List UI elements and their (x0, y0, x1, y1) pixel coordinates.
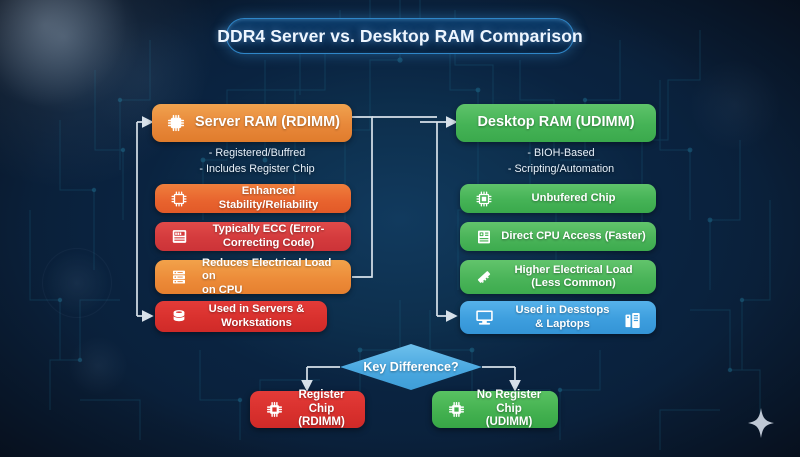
result-no-register-chip[interactable]: No Register Chip (UDIMM) (432, 391, 558, 428)
tower-pc-icon (620, 307, 646, 333)
node-label: Enhanced Stability/Reliability (192, 185, 351, 211)
node-label: Higher Electrical Load (Less Common) (497, 264, 656, 290)
node-used-in-desktops[interactable]: Used in Desstops & Laptops (460, 301, 656, 334)
node-direct-cpu-access[interactable]: Direct CPU Access (Faster) (460, 222, 656, 251)
node-label: Used in Servers & Workstations (192, 303, 327, 329)
node-unbuffered-chip[interactable]: Unbufered Chip (460, 184, 656, 213)
ram-stick-icon (471, 264, 497, 290)
infographic-canvas: DDR4 Server vs. Desktop RAM Comparison (0, 0, 800, 457)
monitor-icon (471, 305, 497, 331)
result-register-chip[interactable]: Register Chip (RDIMM) (250, 391, 365, 428)
server-rack-icon (166, 224, 192, 250)
right-bullets: - BIOH-Based - Scripting/Automation (466, 146, 656, 177)
server-stack-icon (166, 264, 192, 290)
node-server-ram-header[interactable]: Server RAM (RDIMM) (152, 104, 352, 142)
sparkle-decoration (748, 408, 774, 438)
microchip-icon (166, 186, 192, 212)
result-label: Register Chip (RDIMM) (286, 389, 365, 430)
node-enhanced-stability[interactable]: Enhanced Stability/Reliability (155, 184, 351, 213)
desktop-tower-icon (471, 224, 497, 250)
node-label: Server RAM (RDIMM) (189, 114, 352, 131)
cpu-chip-icon (163, 110, 189, 136)
left-bullets: - Registered/Buffred - Includes Register… (162, 146, 352, 177)
page-title-text: DDR4 Server vs. Desktop RAM Comparison (217, 26, 583, 47)
node-label: Direct CPU Access (Faster) (497, 230, 656, 243)
node-typically-ecc[interactable]: Typically ECC (Error-Correcting Code) (155, 222, 351, 251)
node-desktop-ram-header[interactable]: Desktop RAM (UDIMM) (456, 104, 656, 142)
result-label: No Register Chip (UDIMM) (468, 389, 558, 430)
database-icon (166, 304, 192, 330)
node-higher-electrical-load[interactable]: Higher Electrical Load (Less Common) (460, 260, 656, 294)
cpu-chip-icon (262, 398, 286, 422)
cpu-chip-icon (444, 398, 468, 422)
node-label: Unbufered Chip (497, 192, 656, 205)
microchip-icon (471, 186, 497, 212)
node-label: Desktop RAM (UDIMM) (456, 114, 656, 131)
node-used-in-servers[interactable]: Used in Servers & Workstations (155, 301, 327, 332)
decision-label: Key Difference? (340, 344, 482, 390)
node-reduces-electrical-load[interactable]: Reduces Electrical Load on on CPU (155, 260, 351, 294)
decision-diamond[interactable]: Key Difference? (340, 344, 482, 390)
page-title: DDR4 Server vs. Desktop RAM Comparison (226, 18, 574, 54)
node-label: Reduces Electrical Load on on CPU (192, 257, 351, 297)
node-label: Typically ECC (Error-Correcting Code) (192, 223, 351, 249)
